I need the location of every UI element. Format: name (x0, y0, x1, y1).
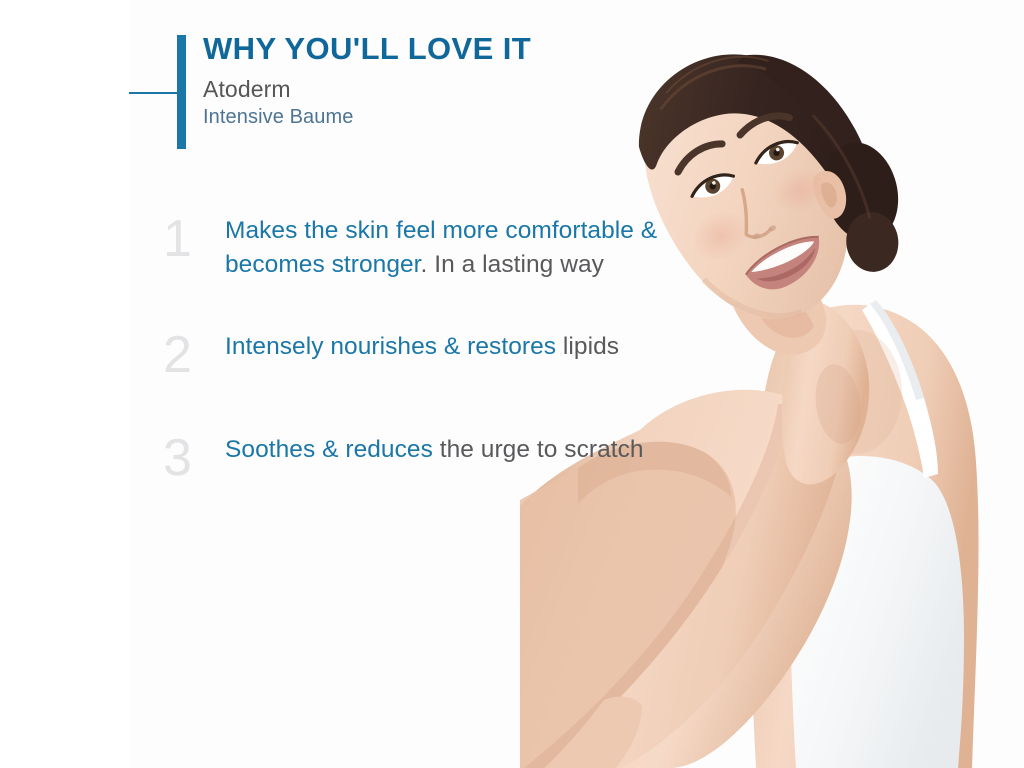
benefit-plain: . In a lasting way (421, 251, 604, 278)
list-item: 1 Makes the skin feel more comfortable &… (163, 212, 683, 282)
list-item: 2 Intensely nourishes & restores lipids (163, 328, 683, 381)
benefit-text: Makes the skin feel more comfortable & b… (225, 212, 683, 282)
benefit-plain: the urge to scratch (440, 436, 644, 463)
benefit-highlight: Soothes & reduces (225, 436, 440, 463)
product-variant: Intensive Baume (203, 105, 673, 129)
header: WHY YOU'LL LOVE IT Atoderm Intensive Bau… (203, 32, 673, 129)
benefit-highlight: Intensely nourishes & restores (225, 333, 563, 360)
page-title: WHY YOU'LL LOVE IT (203, 32, 673, 66)
benefit-plain: lipids (563, 333, 619, 360)
header-accent-line-horizontal (129, 92, 179, 94)
benefit-number: 3 (163, 431, 225, 484)
benefits-list: 1 Makes the skin feel more comfortable &… (163, 212, 683, 484)
product-name: Atoderm (203, 76, 673, 102)
benefit-number: 2 (163, 328, 225, 381)
benefit-number: 1 (163, 212, 225, 265)
list-item: 3 Soothes & reduces the urge to scratch (163, 431, 683, 484)
promo-banner: WHY YOU'LL LOVE IT Atoderm Intensive Bau… (0, 0, 1024, 768)
benefit-text: Soothes & reduces the urge to scratch (225, 431, 683, 467)
benefit-text: Intensely nourishes & restores lipids (225, 328, 683, 364)
